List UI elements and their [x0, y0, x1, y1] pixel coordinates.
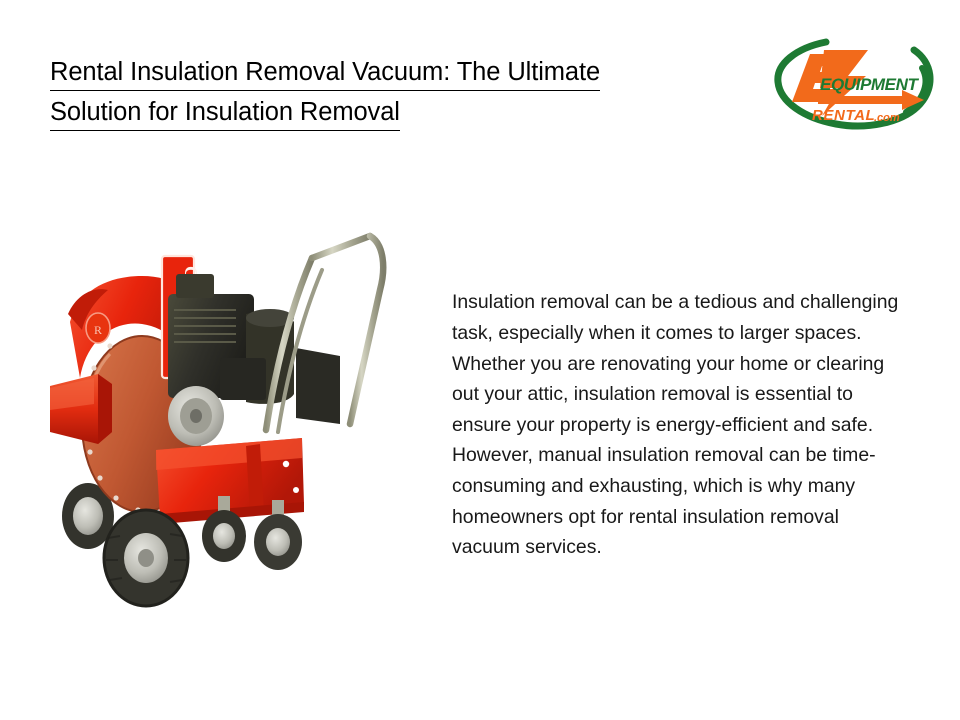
logo-equipment-text: EQUIPMENT [820, 75, 919, 94]
slide-canvas: Rental Insulation Removal Vacuum: The Ul… [0, 0, 960, 720]
title-line-2-text: Solution for Insulation Removal [50, 97, 400, 131]
product-photo-insulation-vacuum: R COLONEL [50, 218, 410, 610]
engine-side-cowl [296, 348, 340, 424]
page-title: Rental Insulation Removal Vacuum: The Ul… [50, 52, 710, 132]
logo-domain-text: .com [874, 112, 900, 124]
title-line-1: Rental Insulation Removal Vacuum: The Ul… [50, 52, 710, 92]
discharge-spout [50, 374, 112, 444]
body-paragraph: Insulation removal can be a tedious and … [452, 287, 904, 562]
title-line-2: Solution for Insulation Removal [50, 92, 710, 132]
emblem-mark: R [94, 323, 102, 337]
engine-air-filter [176, 274, 214, 298]
ez-equipment-rental-logo: EQUIPMENT RENTAL .com [764, 28, 940, 140]
title-line-1-text: Rental Insulation Removal Vacuum: The Ul… [50, 57, 600, 91]
recoil-starter [168, 386, 224, 446]
wheel-rear-right [104, 510, 188, 606]
logo-rental-text: RENTAL [812, 107, 875, 124]
